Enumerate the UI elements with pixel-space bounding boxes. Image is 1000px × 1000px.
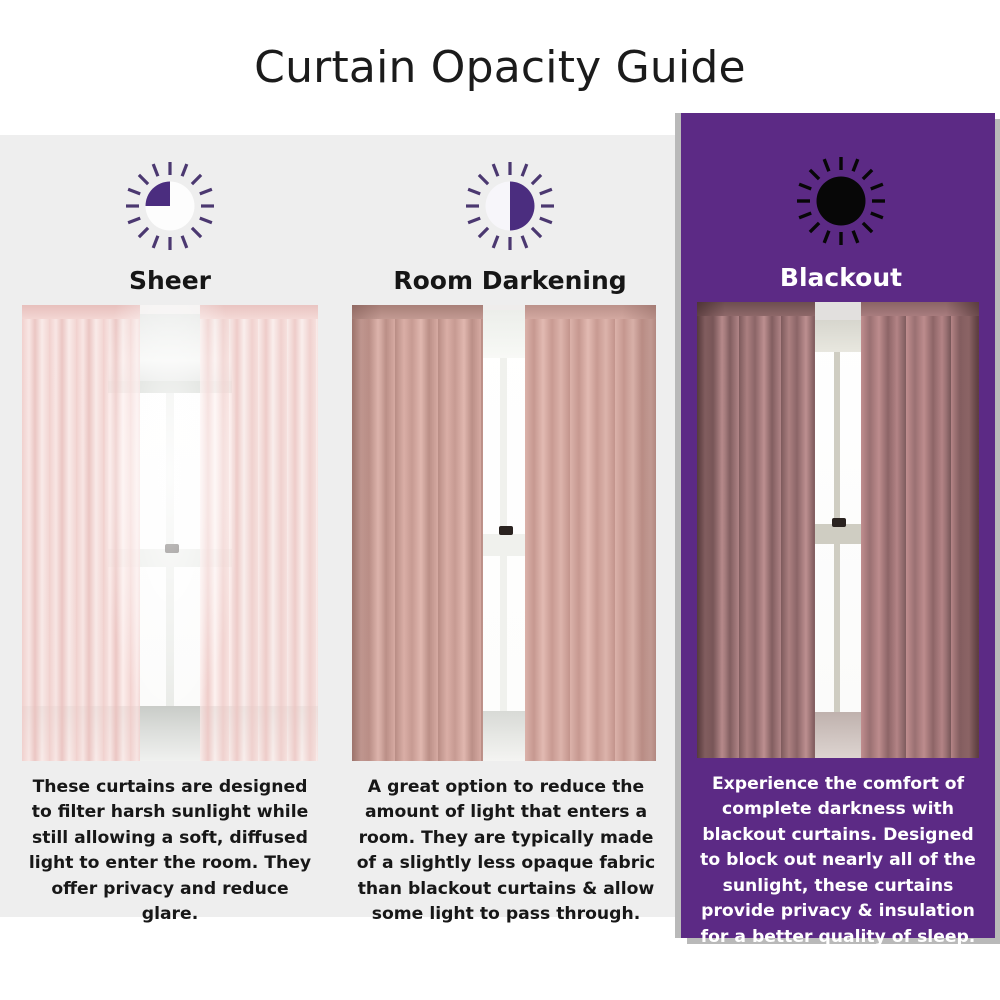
card-heading-blackout: Blackout — [681, 263, 1000, 292]
sun-quarter-filled-icon — [0, 143, 340, 268]
photo-sheer — [22, 305, 318, 761]
card-sheer[interactable]: Sheer These curtains are desig — [0, 135, 340, 917]
curtain-panel-right — [861, 302, 979, 758]
card-heading-room-darkening: Room Darkening — [340, 266, 680, 295]
sun-full-filled-icon — [681, 141, 1000, 261]
photo-blackout — [697, 302, 979, 758]
page-title: Curtain Opacity Guide — [254, 42, 746, 93]
sun-half-filled-icon — [340, 143, 680, 268]
curtain-panel-right — [525, 305, 656, 761]
description-room-darkening: A great option to reduce the amount of l… — [356, 775, 656, 928]
curtain-panel-left — [352, 305, 483, 761]
description-sheer: These curtains are designed to filter ha… — [26, 775, 314, 928]
photo-room-darkening — [352, 305, 656, 761]
card-heading-sheer: Sheer — [0, 266, 340, 295]
curtain-panel-left — [697, 302, 815, 758]
description-blackout: Experience the comfort of complete darkn… — [693, 772, 983, 950]
card-room-darkening[interactable]: Room Darkening A great option to re — [340, 135, 680, 917]
card-blackout[interactable]: Blackout Experience the comfort of — [681, 113, 995, 938]
